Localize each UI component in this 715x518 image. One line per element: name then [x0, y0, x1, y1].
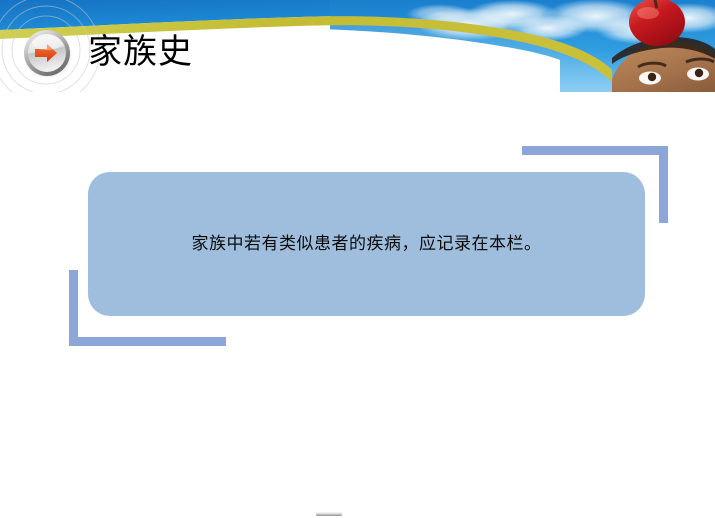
- slide-canvas: 家族史 家族中若有类似患者的疾病，应记录在本栏。: [0, 0, 715, 518]
- content-box: 家族中若有类似患者的疾病，应记录在本栏。: [88, 172, 645, 316]
- footer-bar: [316, 512, 342, 516]
- bracket-bottom-left-horizontal-bar: [69, 337, 226, 346]
- arrow-right-icon[interactable]: [22, 28, 72, 78]
- slide-title-row: 家族史: [0, 25, 193, 81]
- content-body-text: 家族中若有类似患者的疾病，应记录在本栏。: [192, 231, 542, 257]
- page-title: 家族史: [88, 33, 193, 73]
- bracket-bottom-left-vertical-bar: [69, 270, 78, 346]
- bracket-top-right-horizontal-bar: [522, 146, 668, 155]
- bracket-top-right-vertical-bar: [659, 146, 668, 223]
